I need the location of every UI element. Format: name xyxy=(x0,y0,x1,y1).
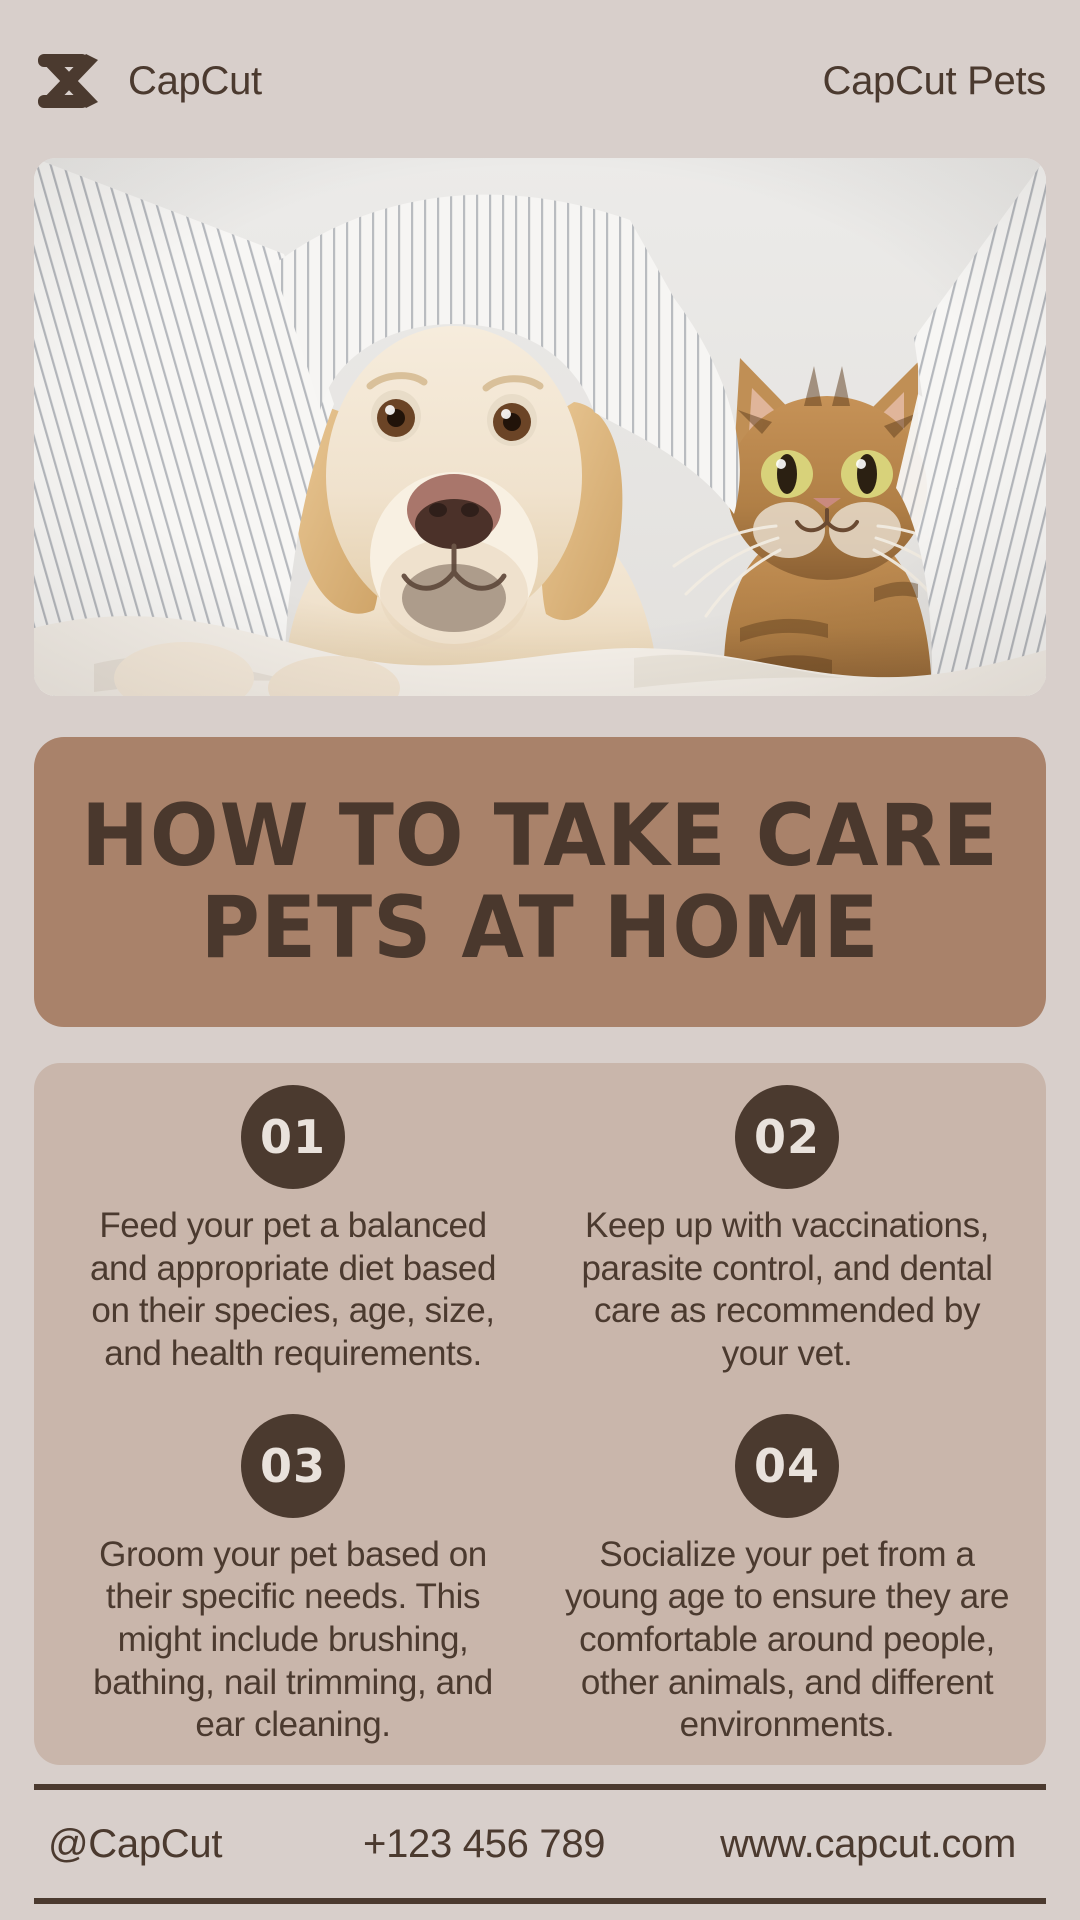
phone-number[interactable]: +123 456 789 xyxy=(363,1822,605,1867)
step-number-badge: 03 xyxy=(241,1414,345,1518)
header-right-label: CapCut Pets xyxy=(823,61,1046,101)
step-description: Feed your pet a balanced and appropriate… xyxy=(68,1205,518,1376)
step-item: 01 Feed your pet a balanced and appropri… xyxy=(52,1085,534,1404)
step-description: Keep up with vaccinations, parasite cont… xyxy=(562,1205,1012,1376)
infographic-poster: CapCut CapCut Pets xyxy=(0,0,1080,1920)
step-item: 02 Keep up with vaccinations, parasite c… xyxy=(546,1085,1028,1404)
step-number-badge: 02 xyxy=(735,1085,839,1189)
capcut-logo-icon xyxy=(34,52,108,110)
header: CapCut CapCut Pets xyxy=(34,48,1046,114)
step-number-badge: 04 xyxy=(735,1414,839,1518)
step-description: Groom your pet based on their specific n… xyxy=(68,1534,518,1747)
step-item: 04 Socialize your pet from a young age t… xyxy=(546,1414,1028,1747)
page-title-line-2: PETS AT HOME xyxy=(201,882,880,974)
brand: CapCut xyxy=(34,52,262,110)
footer-divider-bottom xyxy=(34,1898,1046,1904)
title-banner: HOW TO TAKE CARE PETS AT HOME xyxy=(34,737,1046,1027)
page-title-line-1: HOW TO TAKE CARE xyxy=(81,790,999,882)
steps-panel: 01 Feed your pet a balanced and appropri… xyxy=(34,1063,1046,1765)
step-item: 03 Groom your pet based on their specifi… xyxy=(52,1414,534,1747)
brand-name: CapCut xyxy=(128,61,262,101)
website-url[interactable]: www.capcut.com xyxy=(720,1822,1016,1867)
step-description: Socialize your pet from a young age to e… xyxy=(562,1534,1012,1747)
social-handle[interactable]: @CapCut xyxy=(48,1822,222,1867)
step-number-badge: 01 xyxy=(241,1085,345,1189)
footer: @CapCut +123 456 789 www.capcut.com xyxy=(34,1784,1046,1904)
footer-contact-row: @CapCut +123 456 789 www.capcut.com xyxy=(34,1790,1046,1898)
hero-photo xyxy=(34,158,1046,696)
